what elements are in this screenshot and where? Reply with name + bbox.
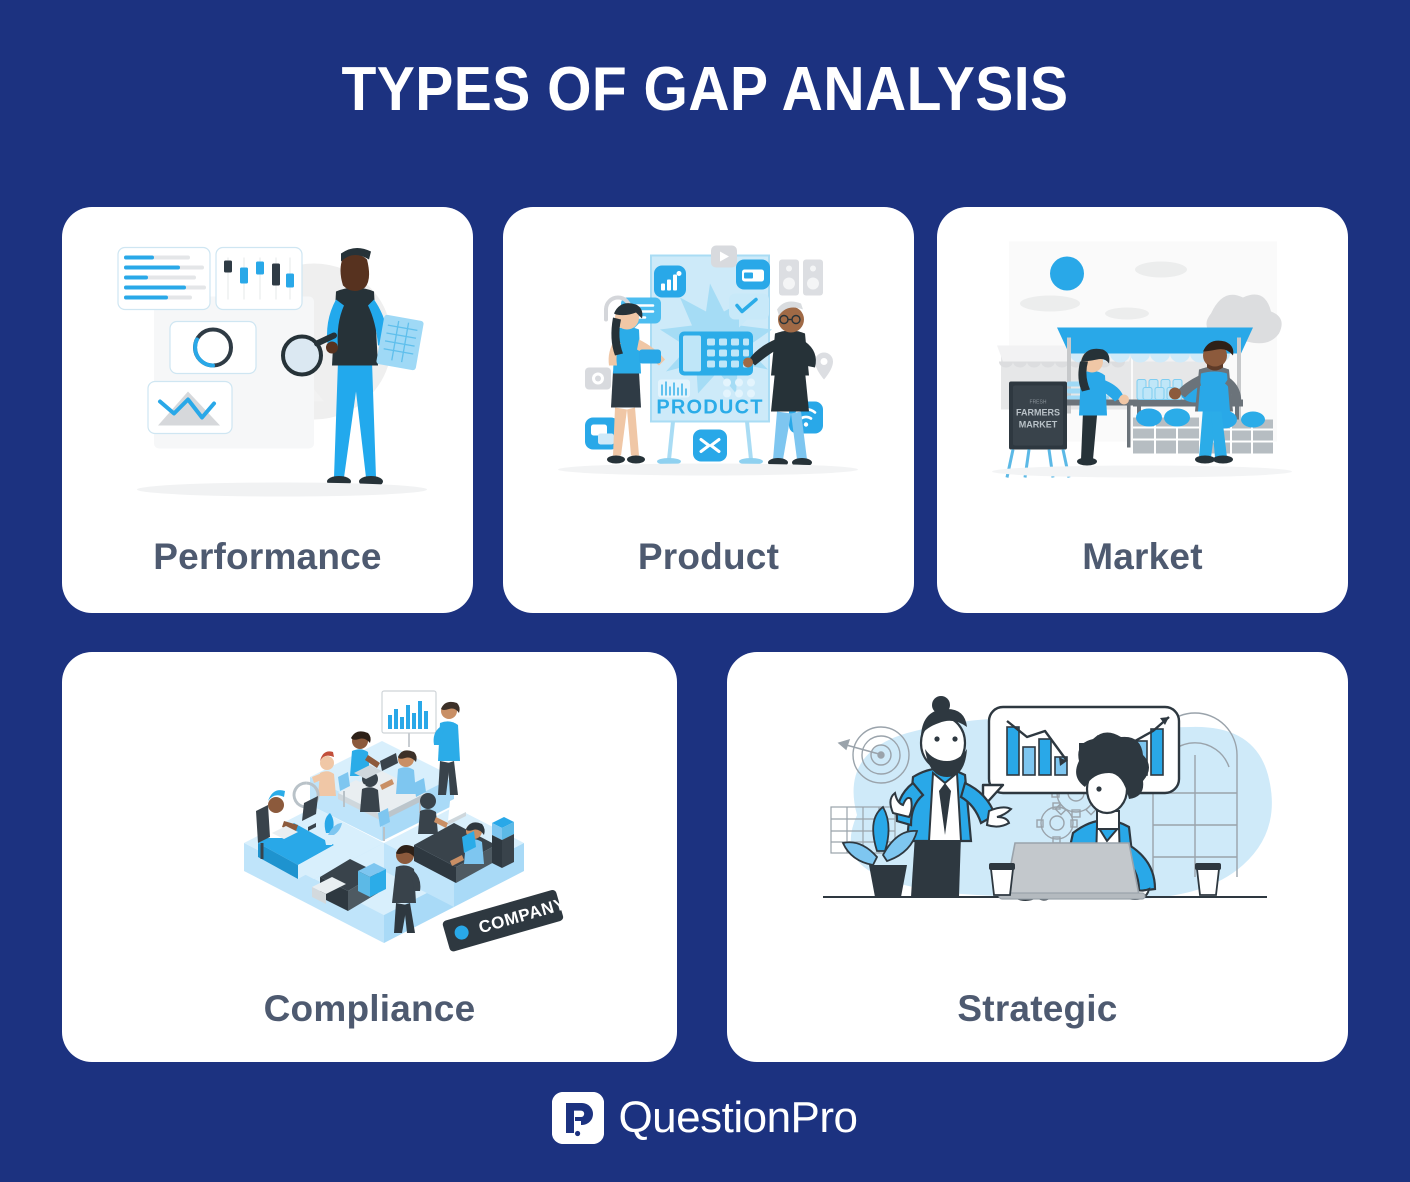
card-product[interactable]: PRODUCT [503,207,914,613]
questionpro-logo-icon [552,1092,604,1144]
card-performance[interactable]: Performance [62,207,473,613]
page-title: TYPES OF GAP ANALYSIS [56,54,1353,125]
card-market[interactable]: FRESH FARMERS MARKET [937,207,1348,613]
card-label-product: Product [503,536,914,578]
svg-text:PRODUCT: PRODUCT [656,397,763,419]
svg-text:FARMERS: FARMERS [1016,408,1060,418]
compliance-illustration: COMPANY [62,652,677,988]
market-illustration: FRESH FARMERS MARKET [937,207,1348,536]
svg-text:FRESH: FRESH [1030,400,1047,406]
svg-text:MARKET: MARKET [1019,420,1058,430]
product-illustration: PRODUCT [503,207,914,536]
strategic-illustration [727,652,1348,988]
card-strategic[interactable]: Strategic [727,652,1348,1062]
brand-name: QuestionPro [618,1096,857,1140]
card-compliance[interactable]: COMPANY Compliance [62,652,677,1062]
card-label-strategic: Strategic [727,988,1348,1030]
card-label-compliance: Compliance [62,988,677,1030]
card-label-market: Market [937,536,1348,578]
performance-illustration [62,207,473,536]
footer-brand: QuestionPro [0,1092,1410,1144]
card-label-performance: Performance [62,536,473,578]
